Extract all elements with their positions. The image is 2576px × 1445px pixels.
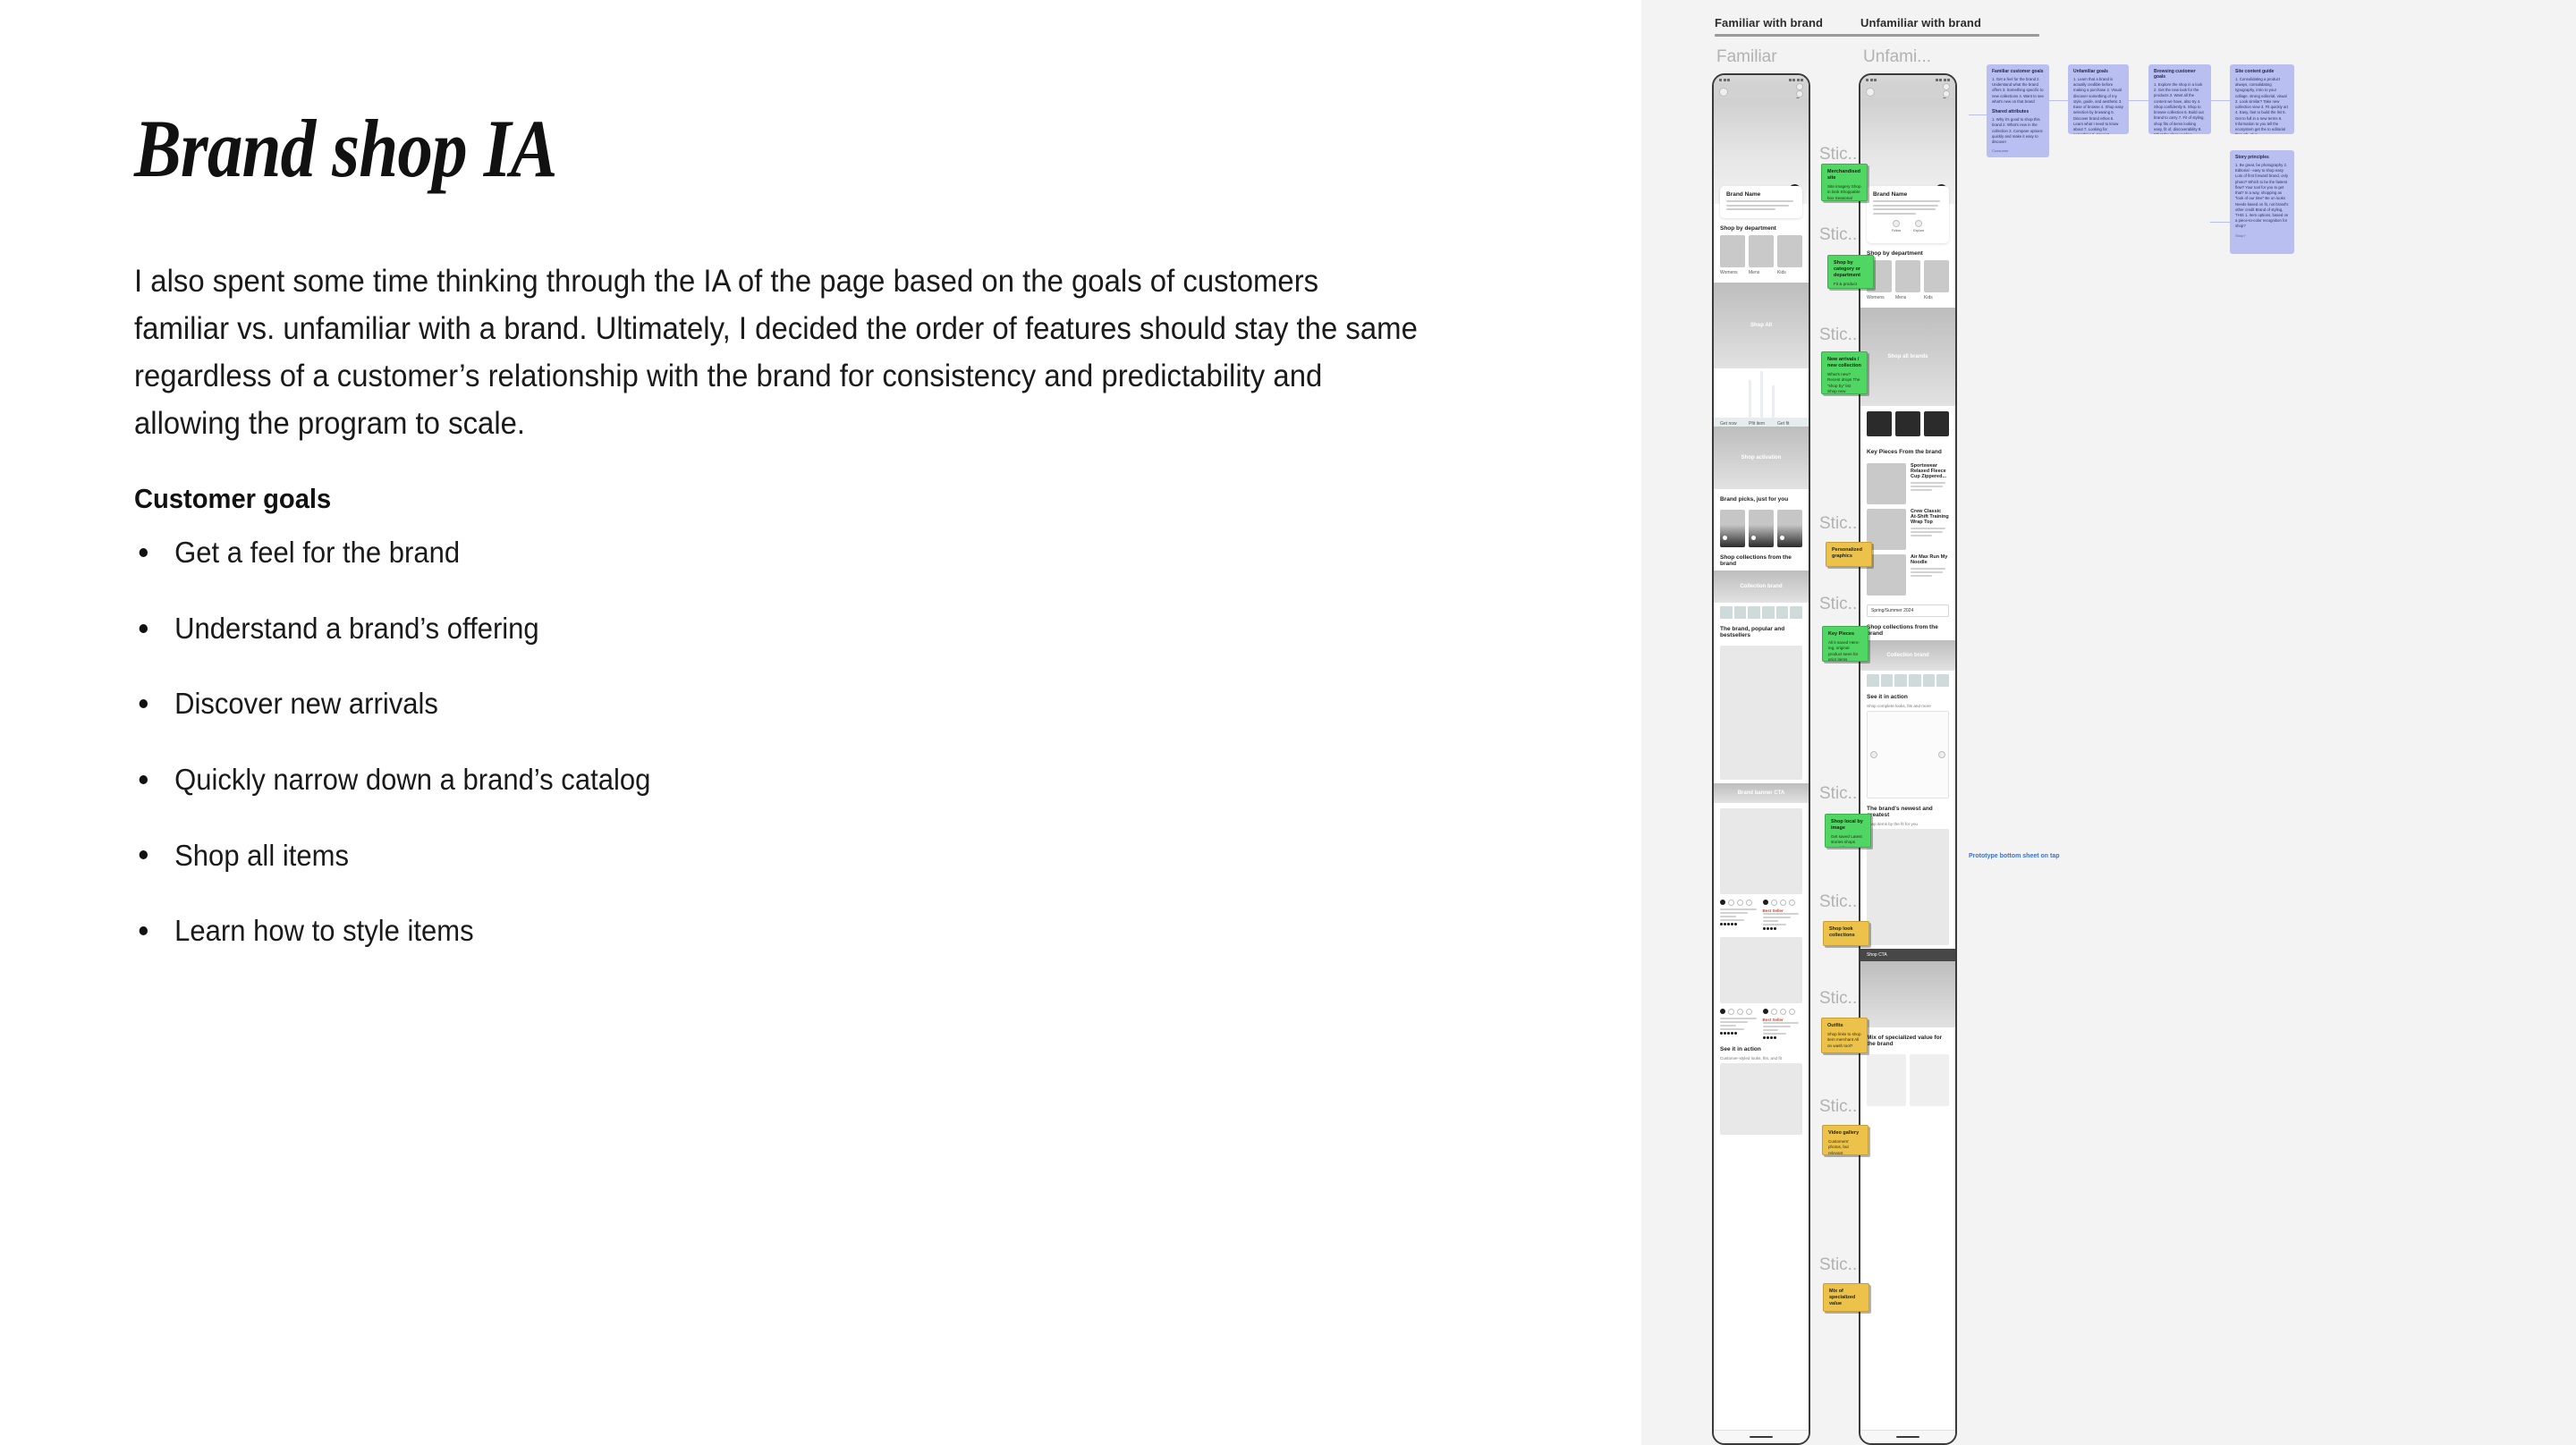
item-thumbnail [1867, 463, 1906, 504]
lower-band [1860, 961, 1955, 1027]
tile-label: Mens [1749, 270, 1774, 275]
section-header-unfamiliar: Unfamiliar with brand [1860, 16, 2039, 37]
sticky-body: Shop links to shop item merchant All on … [1827, 1032, 1861, 1049]
sticky-note[interactable]: Video gallery Customers' photos, but rel… [1822, 1125, 1868, 1155]
goal-label: Shop all items [174, 839, 349, 872]
note-body: 1. Get a feel for the brand 2. Understan… [1992, 77, 2044, 105]
grid-spacer [1720, 937, 1802, 1003]
product-grid-2[interactable]: Best Seller [1714, 1003, 1809, 1039]
note-card-browsing-goals[interactable]: Browsing customer goals 1. Explore the s… [2148, 64, 2211, 134]
article-column: Brand shop IA I also spent some time thi… [0, 0, 1641, 1445]
list-item: Discover new arrivals [134, 686, 1551, 722]
bestsellers-section-title: The brand's newest and greatest [1860, 799, 1955, 822]
article-paragraph: I also spent some time thinking through … [134, 258, 1420, 448]
sticky-body: Site imagery Shop in look Shoppable box … [1827, 184, 1861, 201]
product-row[interactable] [1714, 506, 1809, 547]
department-tile[interactable] [1924, 260, 1949, 292]
product-grid[interactable]: Best Seller [1714, 894, 1809, 930]
sticky-body: Customers' photos, but relevant [1828, 1139, 1862, 1155]
bestsellers-image [1720, 646, 1802, 780]
season-banner[interactable]: Spring/Summer 2024 [1867, 604, 1949, 617]
note-title: Story principles [2235, 155, 2289, 160]
note-card-unfamiliar-goals[interactable]: Unfamiliar goals 1. Learn that a brand i… [2068, 64, 2129, 134]
note-body: 1. Explore the shop in a look 2. Get the… [2154, 82, 2206, 134]
bestsellers-sub: Shop items by the fit for you [1860, 822, 1955, 829]
sticky-note[interactable]: New arrivals / new collection What's new… [1821, 351, 1868, 394]
swatch-row[interactable] [1714, 603, 1809, 619]
item-title: Sportswear Relaxed Fleece Cup Zippered..… [1911, 463, 1949, 479]
in-action-carousel[interactable] [1867, 711, 1949, 799]
department-tiles[interactable] [1714, 235, 1809, 267]
department-tile[interactable] [1720, 235, 1745, 267]
department-tiles[interactable] [1860, 260, 1955, 292]
department-tile[interactable] [1777, 235, 1802, 267]
goal-label: Discover new arrivals [174, 687, 438, 720]
brand-card-actions[interactable]: Follow Explore [1873, 220, 1943, 232]
frame-label-sticky-3[interactable]: Stic... [1819, 325, 1862, 345]
promo-band-caption-2: Shop activation [1714, 455, 1809, 461]
search-icon[interactable] [1943, 83, 1950, 90]
brand-card-lines [1873, 200, 1943, 215]
frame-label-sticky-1[interactable]: Stic... [1819, 145, 1862, 165]
dark-card-row[interactable] [1860, 406, 1955, 436]
slide-root: Brand shop IA I also spent some time thi… [0, 0, 2576, 1445]
banner-text: Brand banner CTA [1714, 790, 1809, 796]
editorial-image [1720, 808, 1802, 894]
department-tile-labels: Womens Mens Kids [1714, 267, 1809, 275]
bullet-icon [140, 548, 148, 557]
note-title: Unfamiliar goals [2073, 69, 2123, 74]
product-cell[interactable] [1720, 900, 1760, 930]
bestsellers-section-title: The brand, popular and bestsellers [1714, 619, 1809, 642]
promo-band: Shop All [1714, 283, 1809, 368]
sticky-note[interactable]: Shop local by image Get saved Latest sto… [1825, 814, 1871, 848]
connector-line [2210, 222, 2230, 223]
note-title: Familiar customer goals [1992, 69, 2044, 74]
sticky-note[interactable]: Shop by category or department Fit & pro… [1827, 255, 1874, 289]
section-header-label: Familiar with brand [1715, 16, 1885, 30]
bullet-icon [140, 850, 148, 859]
sticky-body: What's new? Recent drops The “shop by” l… [1827, 372, 1861, 394]
department-section-title: Shop by department [1714, 218, 1809, 235]
note-title: Site content guide [2235, 69, 2289, 74]
sticky-title: Shop local by image [1831, 819, 1865, 832]
phone-mockup-familiar[interactable]: Brand Name Shop by department Womens Men… [1712, 73, 1810, 1445]
collection-tag: Collection brand [1860, 653, 1955, 658]
product-cell[interactable]: Best Seller [1763, 1009, 1803, 1039]
action-follow[interactable]: Follow [1892, 220, 1901, 232]
search-icon[interactable] [1796, 83, 1803, 90]
brand-card-title: Brand Name [1873, 191, 1943, 198]
frame-label-sticky-6[interactable]: Stic... [1819, 784, 1862, 804]
brand-card[interactable]: Brand Name [1720, 186, 1802, 218]
in-action-title: See it in action [1860, 687, 1955, 704]
in-action-image [1720, 1063, 1802, 1135]
section-header-label: Unfamiliar with brand [1860, 16, 2039, 30]
section-header-rule [1860, 34, 2039, 37]
in-action-sub: Shop complete looks, fits and more [1860, 704, 1955, 711]
list-item: Get a feel for the brand [134, 535, 1551, 570]
tile-label: Kids [1924, 295, 1949, 300]
product-card[interactable] [1720, 510, 1745, 547]
section-header-rule [1715, 34, 1885, 37]
bottom-nav[interactable] [1714, 1430, 1809, 1443]
section-header-familiar: Familiar with brand [1715, 16, 1885, 37]
product-cell[interactable] [1720, 1009, 1760, 1039]
note-card-story-principles[interactable]: Story principles 1. Be great, be photogr… [2230, 150, 2294, 254]
list-item: Quickly narrow down a brand’s catalog [134, 762, 1551, 798]
note-footer: Shop? [2235, 233, 2289, 238]
list-item[interactable]: Air Max Run My Noodle [1860, 550, 1955, 596]
department-tile[interactable] [1895, 260, 1920, 292]
sticky-title: Shop by category or department [1834, 260, 1868, 279]
list-item: Shop all items [134, 838, 1551, 874]
home-indicator-icon [1896, 1436, 1919, 1438]
goal-label: Quickly narrow down a brand’s catalog [174, 763, 650, 796]
department-tile-labels: Womens Mens Kids [1860, 292, 1955, 300]
bag-icon[interactable] [1943, 90, 1950, 97]
connector-line [2210, 100, 2230, 101]
sticky-title: New arrivals / new collection [1827, 357, 1861, 369]
collection-band: Collection brand [1860, 640, 1955, 671]
bullet-icon [140, 624, 148, 633]
goal-label: Learn how to style items [174, 914, 473, 947]
sticky-note[interactable]: Mix of specialized value [1823, 1283, 1869, 1312]
product-cell[interactable]: Best Seller [1763, 900, 1803, 930]
figma-board[interactable]: Familiar with brand Unfamiliar with bran… [1641, 0, 2576, 1445]
bottom-nav[interactable] [1860, 1430, 1955, 1443]
item-thumbnail [1867, 509, 1906, 550]
specialized-card[interactable] [1867, 1054, 1906, 1106]
sticky-body: Get saved Latest stories shops Good fit … [1831, 834, 1865, 848]
dark-card[interactable] [1895, 411, 1920, 436]
home-indicator-icon [1750, 1436, 1773, 1438]
note-subtitle: Shared attributes [1992, 109, 2044, 114]
list-item[interactable]: Sportswear Relaxed Fleece Cup Zippered..… [1860, 459, 1955, 504]
sticky-title: Outfits [1827, 1023, 1861, 1029]
note-body: 1. Be great, be photography 2. Editorial… [2235, 163, 2289, 230]
note-card-site-content[interactable]: Site content guide 1. Consolidating a pr… [2230, 64, 2294, 134]
prototype-annotation[interactable]: Prototype bottom sheet on tap [1969, 853, 2060, 859]
promo-band-caption: Shop All [1714, 323, 1809, 328]
sticky-note[interactable]: Merchandised site Site imagery Shop in l… [1821, 164, 1868, 201]
department-section-title: Shop by department [1860, 243, 1955, 260]
product-card[interactable] [1749, 510, 1774, 547]
status-bar [1860, 75, 1955, 85]
frame-label-unfamiliar[interactable]: Unfami... [1863, 47, 1931, 67]
customer-goals-heading: Customer goals [134, 483, 1551, 515]
sticky-note[interactable]: Outfits Shop links to shop item merchant… [1821, 1018, 1868, 1053]
app-nav-bar[interactable] [1860, 85, 1955, 98]
back-icon[interactable] [1866, 88, 1875, 97]
collections-section-title: Shop collections from the brand [1714, 547, 1809, 570]
specialized-card[interactable] [1910, 1054, 1949, 1106]
note-body: 1. Learn that a brand is actually credib… [2073, 77, 2123, 134]
list-item[interactable]: Crew Classic At-Shift Training Wrap Top [1860, 504, 1955, 550]
product-card[interactable] [1777, 510, 1802, 547]
cta-banner[interactable]: Shop CTA [1860, 949, 1955, 961]
bullet-icon [140, 699, 148, 708]
brand-card-title: Brand Name [1726, 191, 1796, 198]
note-subbody: 1. Why it's good to shop this brand 2. W… [1992, 117, 2044, 145]
note-footer: Consumer [1992, 148, 2044, 153]
dark-card[interactable] [1924, 411, 1949, 436]
promo-band: Shop all brands [1860, 308, 1955, 406]
frame-label-sticky-4[interactable]: Stic... [1819, 514, 1862, 534]
collection-band: Collection brand [1714, 570, 1809, 603]
sticky-note[interactable]: Personalized graphics [1826, 542, 1872, 567]
frame-label-sticky-5[interactable]: Stic... [1819, 595, 1862, 614]
promo-band-2: Shop activation [1714, 427, 1809, 489]
tile-label: Kids [1777, 270, 1802, 275]
bullet-icon [140, 926, 148, 935]
specialized-title: Mix of specialized value for the brand [1860, 1027, 1955, 1051]
banner-band: Brand banner CTA [1714, 783, 1809, 803]
dark-card[interactable] [1867, 411, 1892, 436]
product-bars [1714, 368, 1809, 418]
sticky-title: Key Pieces [1828, 631, 1862, 638]
note-body: 1. Consolidating a product always, conso… [2235, 77, 2289, 134]
bar-labels: Get now Pfit item Get fit [1714, 418, 1809, 427]
goal-label: Understand a brand’s offering [174, 612, 539, 645]
sticky-body: Fit & product [1834, 282, 1868, 287]
tile-label: Womens [1720, 270, 1745, 275]
department-tile[interactable] [1749, 235, 1774, 267]
sticky-title: Mix of specialized value [1829, 1289, 1863, 1307]
frame-label-sticky-2[interactable]: Stic... [1819, 225, 1862, 245]
note-title: Browsing customer goals [2154, 69, 2206, 80]
sticky-title: Merchandised site [1827, 169, 1861, 182]
status-bar [1714, 75, 1809, 85]
goal-label: Get a feel for the brand [174, 536, 460, 569]
back-icon[interactable] [1719, 88, 1728, 97]
item-title: Air Max Run My Noodle [1911, 554, 1949, 565]
bullet-icon [140, 775, 148, 784]
list-item: Learn how to style items [134, 913, 1551, 949]
sticky-note[interactable]: Key Pieces All it saved Hero-ing, origin… [1822, 626, 1868, 662]
collection-tag: Collection brand [1714, 584, 1809, 589]
connector-line [2048, 100, 2068, 101]
specialized-row[interactable] [1860, 1051, 1955, 1106]
item-title: Crew Classic At-Shift Training Wrap Top [1911, 509, 1949, 525]
frame-label-familiar[interactable]: Familiar [1716, 47, 1777, 67]
customer-goals-list: Get a feel for the brand Understand a br… [134, 535, 1551, 949]
collections-section-title: Shop collections from the brand [1860, 617, 1955, 640]
sticky-title: Shop look collections [1829, 926, 1863, 939]
sticky-body: All it saved Hero-ing, original product … [1828, 640, 1862, 662]
sticky-title: Personalized graphics [1832, 547, 1866, 560]
item-thumbnail [1867, 554, 1906, 596]
sticky-note[interactable]: Shop look collections [1823, 921, 1869, 946]
carousel-next-icon[interactable] [1938, 751, 1945, 758]
frame-label-sticky-9[interactable]: Stic... [1819, 1097, 1862, 1117]
frame-label-sticky-10[interactable]: Stic... [1819, 1255, 1862, 1275]
swatch-row[interactable] [1860, 671, 1955, 687]
note-card-familiar-goals[interactable]: Familiar customer goals 1. Get a feel fo… [1987, 64, 2049, 157]
connector-line [2129, 100, 2148, 101]
in-action-title: See it in action [1714, 1039, 1809, 1056]
list-item: Understand a brand’s offering [134, 611, 1551, 646]
sticky-title: Video gallery [1828, 1130, 1862, 1137]
brand-card-lines [1726, 200, 1796, 210]
in-action-sub: Customer-styled looks, fits, and fit [1714, 1056, 1809, 1063]
connector-line [1969, 114, 1987, 115]
page-title: Brand shop IA [134, 106, 1430, 193]
brand-card[interactable]: Brand Name Follow Explore [1867, 186, 1949, 243]
promo-band-caption: Shop all brands [1860, 354, 1955, 359]
frame-label-sticky-7[interactable]: Stic... [1819, 892, 1862, 912]
keypieces-title: Key Pieces From the brand [1860, 436, 1955, 459]
action-share[interactable]: Explore [1913, 220, 1924, 232]
tile-label: Mens [1895, 295, 1920, 300]
bag-icon[interactable] [1796, 90, 1803, 97]
bestsellers-image [1867, 829, 1949, 945]
app-nav-bar[interactable] [1714, 85, 1809, 98]
frame-label-sticky-8[interactable]: Stic... [1819, 989, 1862, 1009]
tile-label: Womens [1867, 295, 1892, 300]
picks-section-title: Brand picks, just for you [1714, 489, 1809, 506]
carousel-prev-icon[interactable] [1870, 751, 1877, 758]
